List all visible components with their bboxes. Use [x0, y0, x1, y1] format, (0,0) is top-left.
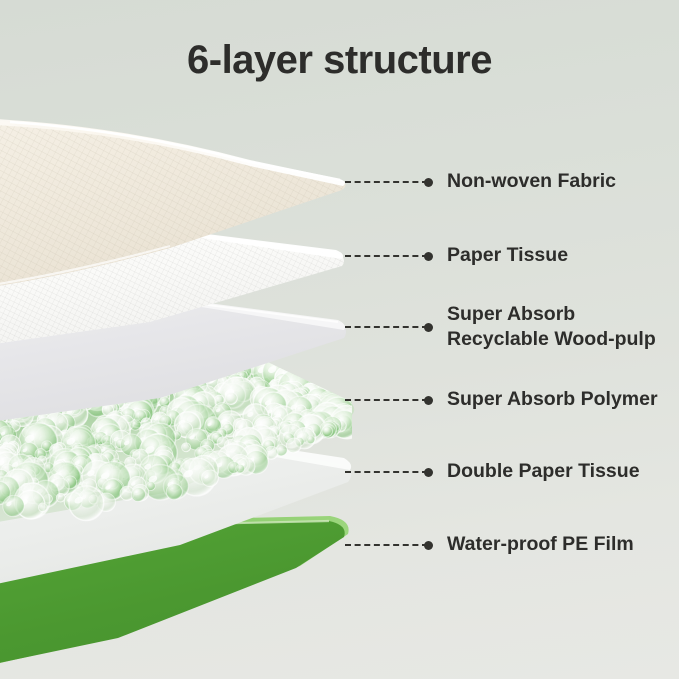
leader-dot-3: [424, 323, 433, 332]
layer-structure-infographic: 6-layer structure: [0, 0, 679, 679]
callout-label-3: Super AbsorbRecyclable Wood-pulp: [447, 302, 656, 352]
leader-line-3: [345, 326, 428, 328]
leader-dot-4: [424, 396, 433, 405]
callout-label-5: Double Paper Tissue: [447, 459, 640, 484]
leader-dot-1: [424, 178, 433, 187]
leader-dot-6: [424, 541, 433, 550]
callout-label-2: Paper Tissue: [447, 243, 568, 268]
leader-line-4: [345, 399, 428, 401]
callout-label-1: Non-woven Fabric: [447, 169, 616, 194]
leader-line-5: [345, 471, 428, 473]
callout-label-3-line-2: Recyclable Wood-pulp: [447, 328, 656, 350]
leader-line-6: [345, 544, 428, 546]
leader-line-2: [345, 255, 428, 257]
callout-label-3-line-1: Super Absorb: [447, 303, 575, 325]
callout-label-4: Super Absorb Polymer: [447, 387, 658, 412]
leader-line-1: [345, 181, 428, 183]
leader-dot-5: [424, 468, 433, 477]
callout-label-6: Water-proof PE Film: [447, 532, 634, 557]
leader-dot-2: [424, 252, 433, 261]
